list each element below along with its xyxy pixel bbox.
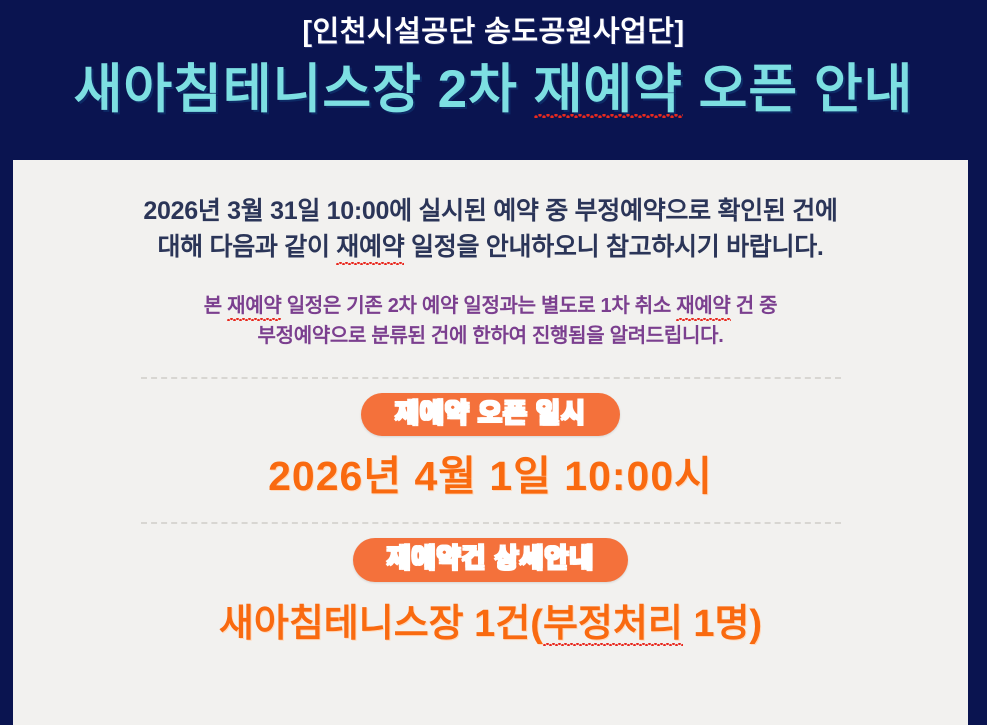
divider-top [141, 377, 841, 379]
schedule-badge-row: 재예약 오픈 일시 [39, 393, 942, 436]
detail-value: 새아침테니스장 1건(부정처리 1명) [39, 602, 942, 648]
detail-misspelled-term: 부정처리 [543, 602, 683, 648]
notice-line-2-prefix: 대해 다음과 같이 [157, 233, 336, 261]
page-title: 새아침테니스장 2차 재예약 오픈 안내 [0, 50, 987, 121]
detail-value-prefix: 새아침테니스장 1건( [219, 603, 543, 645]
sub-prefix: 본 [204, 295, 227, 317]
sub-misspelled-term-a: 재예약 [227, 291, 281, 321]
detail-value-suffix: 1명) [683, 603, 762, 645]
sub-misspelled-term-b: 재예약 [676, 291, 730, 321]
organization-name: [인천시설공단 송도공원사업단] [0, 8, 987, 50]
sub-suffix: 건 중 [731, 295, 778, 317]
notice-sub-text: 본 재예약 일정은 기존 2차 예약 일정과는 별도로 1차 취소 재예약 건 … [39, 291, 942, 351]
notice-sub-line-2: 부정예약으로 분류된 건에 한하여 진행됨을 알려드립니다. [39, 321, 942, 351]
notice-line-1: 2026년 3월 31일 10:00에 실시된 예약 중 부정예약으로 확인된 … [39, 194, 942, 230]
title-misspelled-term: 재예약 [534, 60, 683, 121]
poster-header-band: [인천시설공단 송도공원사업단] 새아침테니스장 2차 재예약 오픈 안내 [0, 0, 987, 160]
content-panel: 2026년 3월 31일 10:00에 실시된 예약 중 부정예약으로 확인된 … [13, 160, 968, 725]
schedule-open-datetime: 2026년 4월 1일 10:00시 [39, 452, 942, 500]
notice-sub-line-1: 본 재예약 일정은 기존 2차 예약 일정과는 별도로 1차 취소 재예약 건 … [39, 291, 942, 321]
divider-bottom [141, 522, 841, 524]
notice-misspelled-term: 재예약 [336, 230, 404, 266]
title-segment-three: 오픈 안내 [683, 60, 914, 119]
detail-badge: 재예약건 상세안내 [353, 538, 629, 581]
sub-middle: 일정은 기존 2차 예약 일정과는 별도로 1차 취소 [281, 295, 676, 317]
notice-line-2-suffix: 일정을 안내하오니 참고하시기 바랍니다. [404, 233, 823, 261]
title-segment-one: 새아침테니스장 2차 [74, 60, 534, 119]
detail-badge-row: 재예약건 상세안내 [39, 538, 942, 581]
notice-line-2: 대해 다음과 같이 재예약 일정을 안내하오니 참고하시기 바랍니다. [39, 230, 942, 266]
schedule-badge: 재예약 오픈 일시 [361, 393, 620, 436]
notice-main-text: 2026년 3월 31일 10:00에 실시된 예약 중 부정예약으로 확인된 … [39, 194, 942, 265]
